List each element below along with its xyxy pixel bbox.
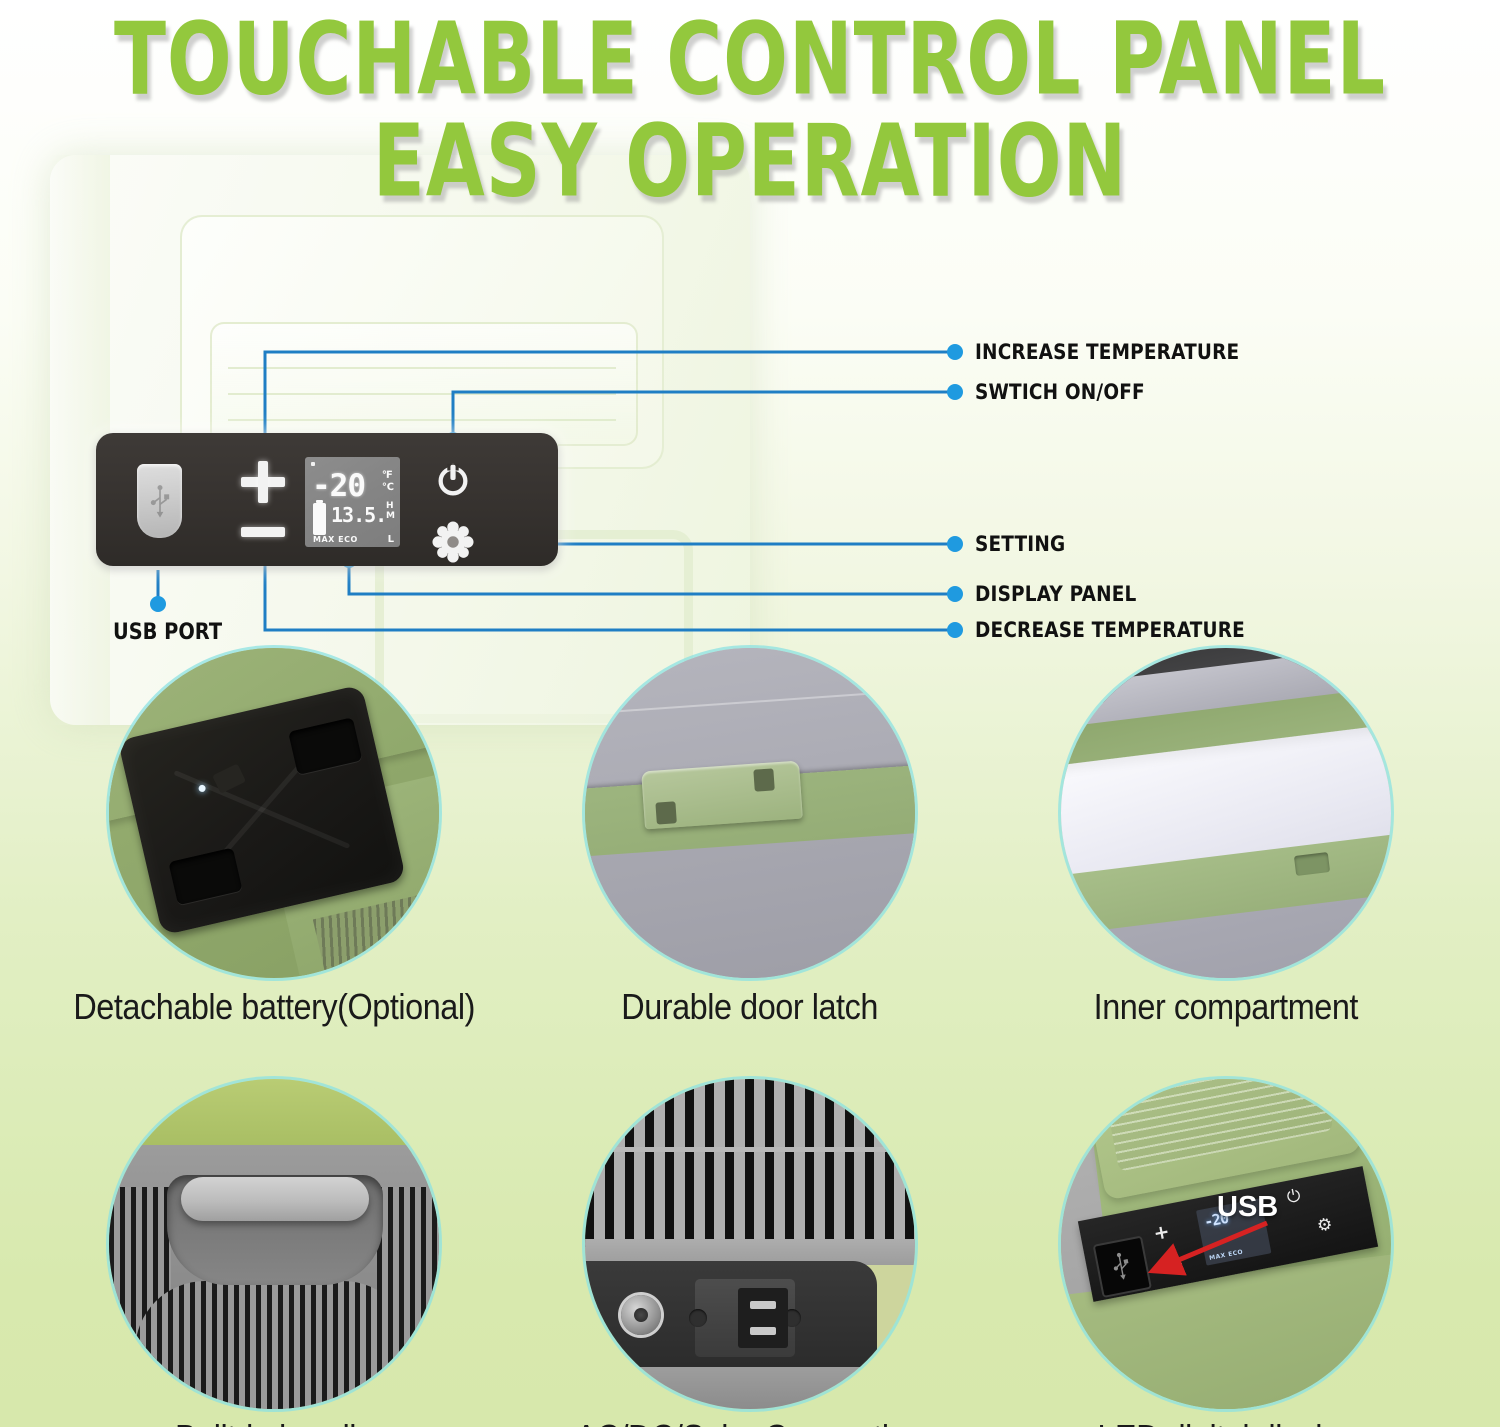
door-latch-photo xyxy=(585,648,915,978)
lcd-level-h: H xyxy=(386,501,394,511)
callout-endpoint-setting xyxy=(947,536,963,552)
feature-caption-ac-dc-solar: AC/DC/Solar Connection xyxy=(576,1417,924,1427)
cooler-lower-body xyxy=(585,830,915,978)
ghost-lid-line xyxy=(228,419,616,421)
ac-dc-solar-photo xyxy=(585,1079,915,1409)
ac-socket-recess xyxy=(738,1288,788,1348)
mini-gear-icon: ⚙ xyxy=(1316,1215,1334,1235)
feature-cell-inner-compartment[interactable]: Inner compartment xyxy=(1011,648,1441,1027)
lcd-level-indicators: H M xyxy=(386,501,395,521)
feature-cell-door-latch[interactable]: Durable door latch xyxy=(535,648,965,1027)
green-top-panel xyxy=(109,1079,439,1153)
feature-row-2: Built-in handle xyxy=(0,1079,1500,1427)
gear-icon[interactable] xyxy=(432,521,474,563)
ac-power-socket xyxy=(695,1279,795,1357)
vent-grille-bottom xyxy=(135,1281,413,1409)
plus-vertical-bar xyxy=(258,461,268,503)
lcd-unit-celsius: ℃ xyxy=(382,482,394,493)
mini-power-icon: ⏻ xyxy=(1286,1187,1302,1206)
minus-horizontal-bar xyxy=(241,527,285,537)
lcd-indicator-dot xyxy=(311,462,315,466)
feature-caption-detachable-battery: Detachable battery(Optional) xyxy=(73,986,475,1027)
callout-endpoint-display xyxy=(947,586,963,602)
feature-cell-detachable-battery[interactable]: Detachable battery(Optional) xyxy=(59,648,489,1027)
feature-cell-built-in-handle[interactable]: Built-in handle xyxy=(59,1079,489,1427)
callout-dot-usb xyxy=(150,596,166,612)
lcd-unit-fahrenheit: ℉ xyxy=(382,470,393,481)
decrease-temperature-button[interactable] xyxy=(241,525,285,539)
callout-endpoint-increase xyxy=(947,344,963,360)
ac-pin-top xyxy=(750,1301,776,1309)
battery-icon xyxy=(313,503,326,535)
callout-lines xyxy=(0,0,1500,700)
lcd-temperature-value: -20 xyxy=(312,471,365,502)
lcd-voltage-value: 13.5. xyxy=(331,505,386,525)
callout-label-switch-on-off: SWTICH ON/OFF xyxy=(975,380,1145,404)
infographic-canvas: TOUCHABLE CONTROL PANEL EASY OPERATION xyxy=(0,0,1500,1427)
callout-label-usb-port: USB PORT xyxy=(113,620,222,645)
power-icon[interactable] xyxy=(434,461,472,499)
feature-cell-led-digital-display[interactable]: + — -20 MAX ECO ⏻ ⚙ USB xyxy=(1011,1079,1441,1427)
feature-caption-built-in-handle: Built-in handle xyxy=(175,1417,374,1427)
control-panel[interactable]: -20 ℉ ℃ 13.5. H M MAX ECO L xyxy=(96,433,558,566)
battery-grip-slot-bottom xyxy=(168,848,242,906)
usb-icon xyxy=(150,484,170,518)
feature-caption-door-latch: Durable door latch xyxy=(622,986,879,1027)
callout-endpoint-switch xyxy=(947,384,963,400)
ac-pin-bottom xyxy=(750,1327,776,1335)
ghost-lid-inner xyxy=(210,322,638,446)
feature-cell-ac-dc-solar[interactable]: AC/DC/Solar Connection xyxy=(535,1079,965,1427)
ghost-lid-line xyxy=(228,393,616,395)
latch-slot-right xyxy=(753,768,774,791)
lcd-mode-indicators: MAX ECO xyxy=(313,535,358,544)
lid-ribs xyxy=(1105,1079,1334,1172)
headline-line-1: TOUCHABLE CONTROL PANEL xyxy=(53,12,1448,110)
lid-catch xyxy=(1294,852,1330,876)
latch-slot-left xyxy=(655,801,676,824)
battery-led-indicator xyxy=(198,784,206,792)
usb-icon xyxy=(1110,1251,1133,1282)
ac-socket-ear-left xyxy=(689,1309,707,1327)
lcd-level-l: L xyxy=(388,534,394,545)
vent-divider xyxy=(585,1147,915,1152)
feature-row-1: Detachable battery(Optional) Durable doo… xyxy=(0,648,1500,1027)
callout-label-increase-temperature: INCREASE TEMPERATURE xyxy=(975,340,1239,364)
red-arrow-icon xyxy=(1141,1219,1271,1279)
callout-endpoint-decrease xyxy=(947,622,963,638)
handle-bar xyxy=(181,1177,369,1221)
callout-label-decrease-temperature: DECREASE TEMPERATURE xyxy=(975,618,1245,642)
headline-line-2: EASY OPERATION xyxy=(53,114,1448,212)
inner-compartment-photo xyxy=(1061,648,1391,978)
lcd-level-m: M xyxy=(386,511,395,521)
detachable-battery-photo xyxy=(109,648,439,978)
ghost-lid xyxy=(180,215,664,469)
feature-grid: Detachable battery(Optional) Durable doo… xyxy=(0,648,1500,1427)
feature-caption-inner-compartment: Inner compartment xyxy=(1094,986,1358,1027)
increase-temperature-button[interactable] xyxy=(241,461,285,503)
feature-caption-led-digital-display: LED digital display xyxy=(1097,1417,1355,1427)
callout-label-setting: SETTING xyxy=(975,532,1065,556)
built-in-handle-photo xyxy=(109,1079,439,1409)
callout-label-display-panel: DISPLAY PANEL xyxy=(975,582,1137,606)
lcd-unit-indicators: ℉ ℃ xyxy=(382,470,394,494)
rear-vent-slats xyxy=(585,1079,915,1247)
lower-body-grey xyxy=(585,1365,915,1409)
display-panel: -20 ℉ ℃ 13.5. H M MAX ECO L xyxy=(305,457,400,547)
door-latch xyxy=(641,761,803,830)
ghost-lid-line xyxy=(228,367,616,369)
usb-port-slot[interactable] xyxy=(137,464,182,538)
led-digital-display-photo: + — -20 MAX ECO ⏻ ⚙ USB xyxy=(1061,1079,1391,1409)
headline-block: TOUCHABLE CONTROL PANEL EASY OPERATION xyxy=(0,0,1500,195)
battery-grip-slot-top xyxy=(288,717,362,775)
